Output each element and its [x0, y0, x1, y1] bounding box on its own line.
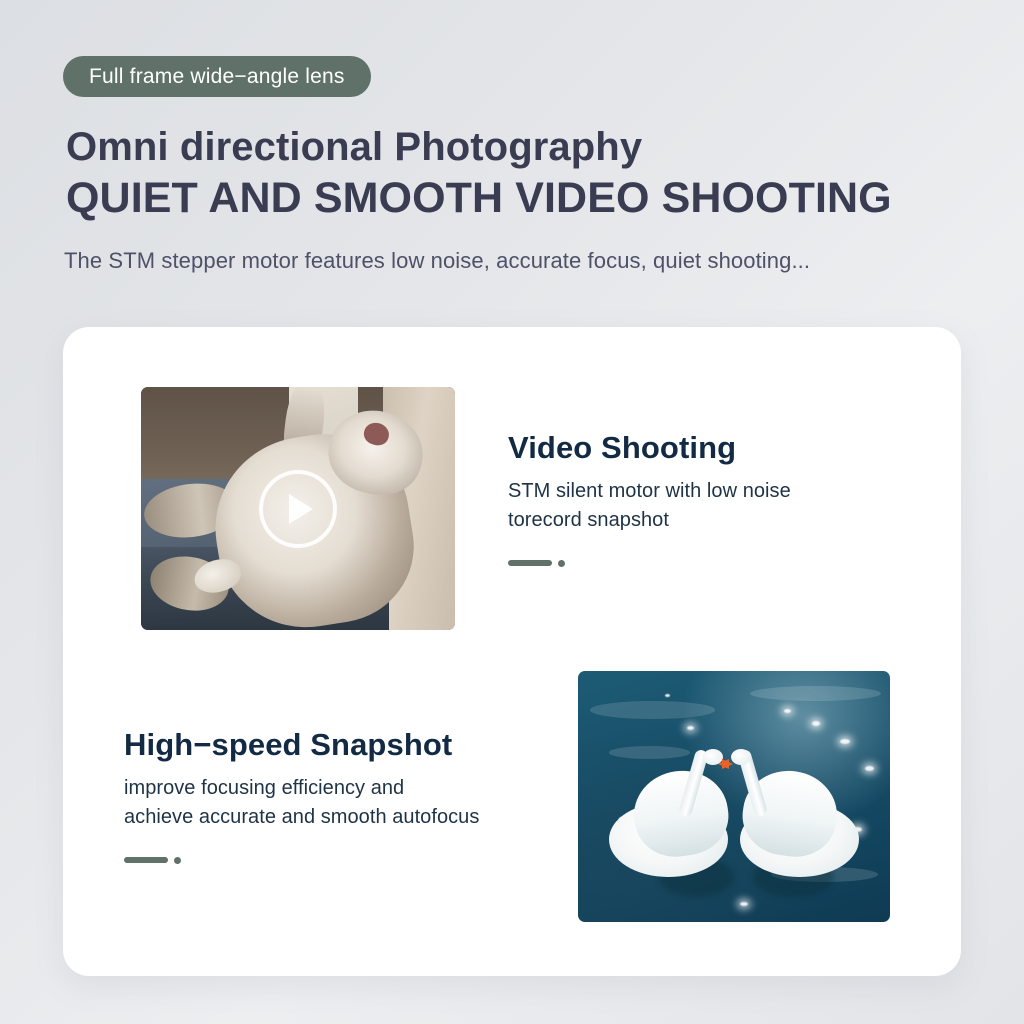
feature-body-line-2: torecord snapshot [508, 509, 669, 531]
divider-dot [174, 857, 181, 864]
feature-divider [508, 560, 898, 567]
swans-photo[interactable] [578, 671, 890, 922]
badge-label: Full frame wide−angle lens [89, 65, 345, 89]
badge-full-frame-lens: Full frame wide−angle lens [63, 56, 371, 97]
swan-right-beak [718, 759, 729, 769]
feature-title: Video Shooting [508, 430, 898, 466]
divider-dot [558, 560, 565, 567]
water-sparkle [840, 739, 850, 744]
feature-body-line-1: STM silent motor with low noise [508, 480, 791, 502]
headline-line-1: Omni directional Photography [66, 124, 986, 170]
feature-video-shooting: Video Shooting STM silent motor with low… [508, 430, 898, 567]
water-sparkle [740, 902, 748, 906]
feature-title: High−speed Snapshot [124, 727, 574, 763]
divider-bar [124, 857, 168, 863]
feature-body-line-2: achieve accurate and smooth autofocus [124, 806, 479, 828]
page-subtitle: The STM stepper motor features low noise… [64, 248, 1004, 274]
feature-body-line-1: improve focusing efficiency and [124, 777, 404, 799]
ripple [750, 686, 881, 701]
swans-image [578, 671, 890, 922]
ripple [609, 746, 690, 759]
page-title: Omni directional Photography QUIET AND S… [66, 124, 986, 224]
feature-body: STM silent motor with low noise torecord… [508, 477, 898, 536]
ripple [590, 701, 715, 719]
feature-divider [124, 857, 574, 864]
divider-bar [508, 560, 552, 566]
play-icon[interactable] [259, 470, 337, 548]
feature-high-speed-snapshot: High−speed Snapshot improve focusing eff… [124, 727, 574, 864]
video-thumbnail[interactable] [141, 387, 455, 630]
water-sparkle [784, 709, 791, 713]
water-sparkle [665, 694, 670, 697]
headline-line-2: QUIET AND SMOOTH VIDEO SHOOTING [66, 174, 986, 224]
play-triangle [289, 494, 313, 524]
feature-body: improve focusing efficiency and achieve … [124, 774, 574, 833]
swan-right-head [731, 749, 751, 765]
